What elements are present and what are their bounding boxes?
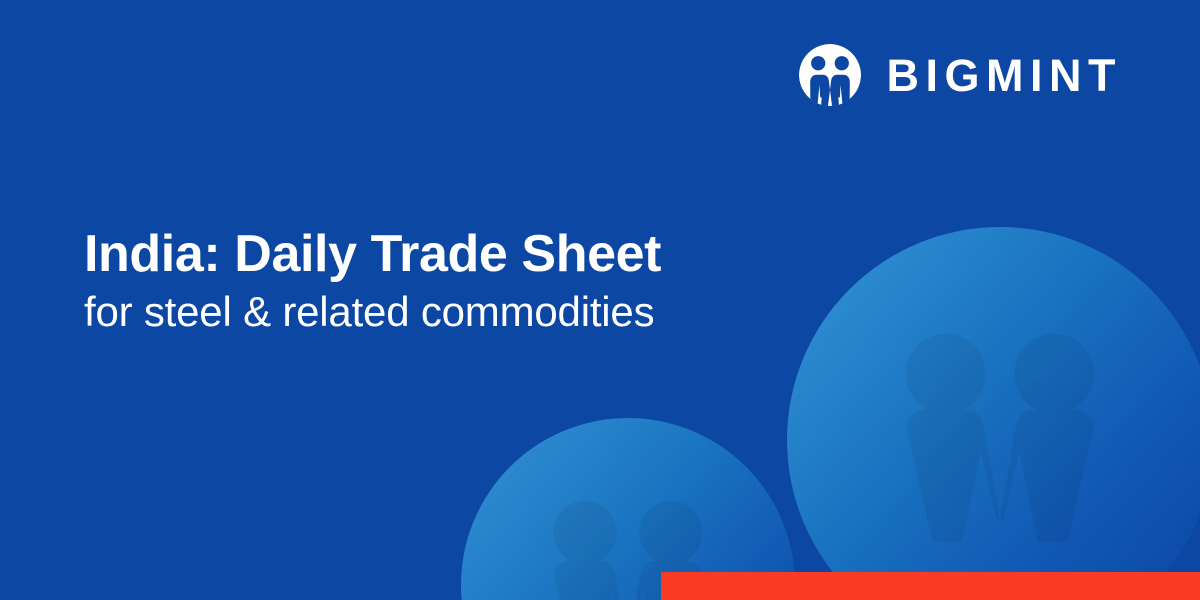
bigmint-people-circle-icon bbox=[799, 44, 861, 106]
banner-canvas: BIGMINT India: Daily Trade Sheet for ste… bbox=[0, 0, 1200, 600]
page-subtitle: for steel & related commodities bbox=[84, 287, 661, 337]
red-accent-bar bbox=[661, 572, 1200, 600]
page-title: India: Daily Trade Sheet bbox=[84, 225, 661, 283]
brand-logo[interactable]: BIGMINT bbox=[799, 44, 1122, 106]
large-watermark bbox=[787, 227, 1200, 600]
headline-block: India: Daily Trade Sheet for steel & rel… bbox=[84, 225, 661, 338]
brand-wordmark: BIGMINT bbox=[887, 53, 1122, 98]
